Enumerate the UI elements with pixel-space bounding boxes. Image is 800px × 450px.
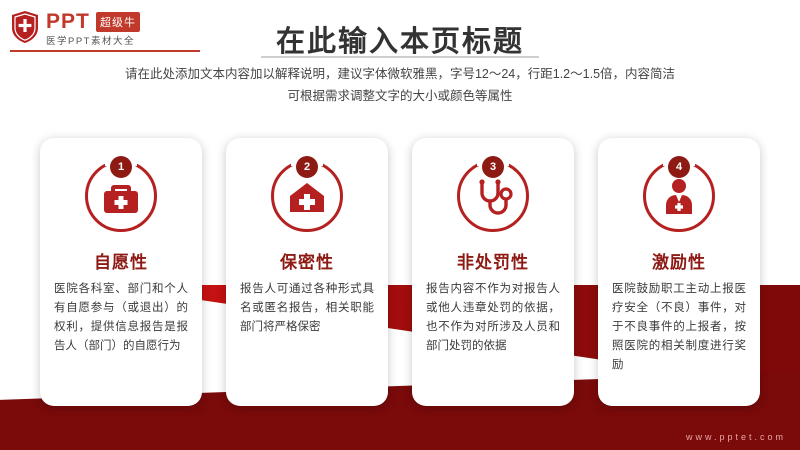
page-title: 在此输入本页标题 bbox=[0, 18, 800, 60]
card-body-text: 医院鼓励职工主动上报医疗安全（不良）事件，对于不良事件的上报者，按照医院的相关制… bbox=[612, 280, 746, 375]
card-number-badge: 3 bbox=[482, 156, 504, 178]
card-heading: 非处罚性 bbox=[412, 248, 574, 273]
card-number-badge: 4 bbox=[668, 156, 690, 178]
card-heading: 激励性 bbox=[598, 248, 760, 273]
card-item[interactable]: 3 非处罚性 报告内容不作为对报告人或他人违章处罚的依据，也不作为对所涉及人员和… bbox=[412, 138, 574, 406]
card-number-badge: 1 bbox=[110, 156, 132, 178]
card-item[interactable]: 4 激励性 医院鼓励职工主动上报医疗安全（不良）事件，对于不良事件的上报者，按照… bbox=[598, 138, 760, 406]
subtitle-line-1: 请在此处添加文本内容加以解释说明，建议字体微软雅黑，字号12～24，行距1.2～… bbox=[0, 63, 800, 85]
slide-root: PPT 超级牛 医学PPT素材大全 在此输入本页标题 请在此处添加文本内容加以解… bbox=[0, 0, 800, 450]
card-list: 1 自愿性 医院各科室、部门和个人有自愿参与（或退出）的权利，提供信息报告是报告… bbox=[40, 138, 760, 408]
page-subtitle: 请在此处添加文本内容加以解释说明，建议字体微软雅黑，字号12～24，行距1.2～… bbox=[0, 63, 800, 107]
card-heading: 保密性 bbox=[226, 248, 388, 273]
hospital-building-icon bbox=[284, 174, 330, 220]
card-heading: 自愿性 bbox=[40, 248, 202, 273]
card-item[interactable]: 1 自愿性 医院各科室、部门和个人有自愿参与（或退出）的权利，提供信息报告是报告… bbox=[40, 138, 202, 406]
medical-kit-icon bbox=[98, 174, 144, 220]
doctor-icon bbox=[656, 174, 702, 220]
footer-url: www.pptet.com bbox=[686, 432, 786, 442]
card-item[interactable]: 2 保密性 报告人可通过各种形式具名或匿名报告，相关职能部门将严格保密 bbox=[226, 138, 388, 406]
card-number-badge: 2 bbox=[296, 156, 318, 178]
card-body-text: 医院各科室、部门和个人有自愿参与（或退出）的权利，提供信息报告是报告人（部门）的… bbox=[54, 280, 188, 356]
stethoscope-icon bbox=[470, 174, 516, 220]
card-body-text: 报告内容不作为对报告人或他人违章处罚的依据，也不作为对所涉及人员和部门处罚的依据 bbox=[426, 280, 560, 356]
subtitle-line-2: 可根据需求调整文字的大小或颜色等属性 bbox=[0, 85, 800, 107]
title-underline bbox=[261, 56, 539, 58]
card-body-text: 报告人可通过各种形式具名或匿名报告，相关职能部门将严格保密 bbox=[240, 280, 374, 337]
